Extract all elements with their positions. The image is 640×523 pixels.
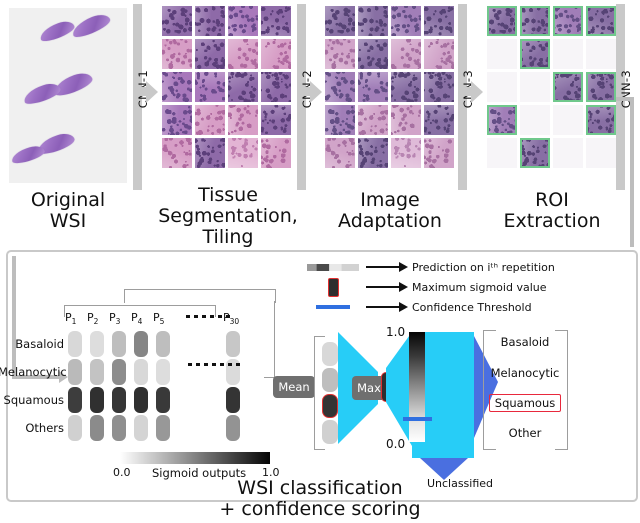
roi-tile <box>520 6 550 36</box>
matrix-column-header: P2 <box>87 311 98 326</box>
legend-label: Confidence Threshold <box>412 301 532 314</box>
roi-tile <box>586 105 616 135</box>
roi-tile <box>487 6 517 36</box>
cnn-1-arrow-stem <box>133 87 147 96</box>
matrix-cell <box>68 415 82 441</box>
mean-col-bracket <box>314 336 325 450</box>
histology-tile <box>325 138 355 168</box>
matrix-cell <box>112 387 126 413</box>
wsi-tissue-shard <box>51 70 94 99</box>
empty-tile-slot <box>520 72 550 102</box>
output-class-basaloid[interactable]: Basaloid <box>489 335 561 349</box>
matrix-cell <box>90 359 104 385</box>
histology-tile <box>162 138 192 168</box>
empty-tile-slot <box>487 138 517 168</box>
histology-tile <box>228 39 258 69</box>
caption-line: Image <box>320 190 460 211</box>
histology-tile <box>325 39 355 69</box>
red-outlined-cap-icon <box>300 278 366 297</box>
matrix-column-header: P30 <box>223 311 239 326</box>
preprocessing-pipeline: Original WSI CNN-1 Tissue Segmentation, … <box>0 0 640 245</box>
matrix-cell <box>226 415 240 441</box>
matrix-row-label: Others <box>0 421 64 435</box>
confidence-threshold-line <box>403 417 432 421</box>
tile-grid-roi <box>487 6 616 168</box>
matrix-cell <box>112 415 126 441</box>
matrix-row-label: Melanocytic <box>0 365 64 379</box>
histology-tile <box>228 72 258 102</box>
matrix-cell <box>226 331 240 357</box>
histology-tile <box>325 72 355 102</box>
matrix-cell <box>68 387 82 413</box>
caption-line: Segmentation, <box>158 206 298 227</box>
roi-tile <box>520 138 550 168</box>
legend: Prediction on iᵗʰ repetition Maximum sig… <box>300 258 560 316</box>
tile-grid-adaptation <box>325 6 454 168</box>
matrix-cell <box>68 359 82 385</box>
tile-grid-segmentation <box>162 6 291 168</box>
matrix-column-header: P3 <box>109 311 120 326</box>
wsi-tissue-shard <box>70 11 113 40</box>
histology-tile <box>228 138 258 168</box>
legend-label: Maximum sigmoid value <box>412 281 547 294</box>
histology-tile <box>195 6 225 36</box>
matrix-row-label: Basaloid <box>0 337 64 351</box>
caption-line: Extraction <box>482 211 622 232</box>
histology-tile <box>358 39 388 69</box>
arrow-icon <box>366 302 412 312</box>
histology-tile <box>195 138 225 168</box>
histology-tile <box>261 6 291 36</box>
histology-tile <box>195 105 225 135</box>
histology-tile <box>424 138 454 168</box>
histology-tile <box>424 72 454 102</box>
output-class-other[interactable]: Other <box>489 426 561 440</box>
matrix-cell <box>156 359 170 385</box>
matrix-cell <box>112 331 126 357</box>
histology-tile <box>391 39 421 69</box>
mean-operation-box[interactable]: Mean <box>273 376 315 398</box>
histology-tile <box>162 6 192 36</box>
empty-tile-slot <box>553 105 583 135</box>
histology-tile <box>424 105 454 135</box>
stage-caption-roi-extraction: ROI Extraction <box>482 190 622 232</box>
gradient-bar-icon <box>300 264 366 271</box>
feed-line-vertical <box>12 256 16 378</box>
matrix-row-label: Squamous <box>0 393 64 407</box>
caption-line: ROI <box>482 190 622 211</box>
matrix-column-header: P4 <box>131 311 142 326</box>
roi-tile <box>553 72 583 102</box>
histology-tile <box>195 72 225 102</box>
arrow-icon <box>366 262 412 272</box>
empty-tile-slot <box>487 72 517 102</box>
matrix-cell <box>90 331 104 357</box>
empty-tile-slot <box>586 138 616 168</box>
histology-tile <box>162 39 192 69</box>
histology-tile <box>325 105 355 135</box>
stage-caption-image-adaptation: Image Adaptation <box>320 190 460 232</box>
matrix-cell <box>68 331 82 357</box>
cnn-1-arrow-head <box>146 81 158 103</box>
histology-tile <box>228 105 258 135</box>
wsi-tissue-shard <box>10 144 46 166</box>
histology-tile <box>391 138 421 168</box>
roi-tile <box>553 6 583 36</box>
confidence-gradient-bar <box>409 332 425 442</box>
route-seg-b <box>630 97 634 247</box>
matrix-header-ellipsis <box>186 315 232 318</box>
colorbar-min-label: 0.0 <box>113 466 131 479</box>
matrix-cell <box>90 415 104 441</box>
empty-tile-slot <box>553 138 583 168</box>
roi-tile <box>487 105 517 135</box>
histology-tile <box>391 105 421 135</box>
histology-tile <box>261 105 291 135</box>
confidence-max-label: 1.0 <box>386 325 405 339</box>
output-class-melanocytic[interactable]: Melanocytic <box>489 366 561 380</box>
roi-tile <box>520 39 550 69</box>
histology-tile <box>424 39 454 69</box>
cnn-3-arrow-stem <box>458 87 472 96</box>
histology-tile <box>162 105 192 135</box>
histology-tile <box>358 105 388 135</box>
histology-tile <box>358 72 388 102</box>
arrow-icon <box>366 282 412 292</box>
roi-tile <box>586 6 616 36</box>
cnn-3-arrow-head <box>471 81 483 103</box>
legend-item-prediction: Prediction on iᵗʰ repetition <box>300 258 560 276</box>
histology-tile <box>261 39 291 69</box>
bottom-section-title: WSI classification + confidence scoring <box>170 478 470 520</box>
matrix-cell <box>156 387 170 413</box>
empty-tile-slot <box>520 105 550 135</box>
title-line: WSI classification <box>170 478 470 499</box>
legend-item-max-sigmoid: Maximum sigmoid value <box>300 278 560 296</box>
histology-tile <box>391 72 421 102</box>
output-class-squamous-selected[interactable]: Squamous <box>489 394 561 412</box>
caption-line: Original <box>5 190 131 211</box>
roi-tile <box>586 72 616 102</box>
histology-tile <box>358 138 388 168</box>
empty-tile-slot <box>553 39 583 69</box>
caption-line: Tissue <box>158 185 298 206</box>
empty-tile-slot <box>586 39 616 69</box>
histology-tile <box>162 72 192 102</box>
caption-line: WSI <box>5 211 131 232</box>
confidence-min-label: 0.0 <box>386 437 405 451</box>
matrix-cell <box>156 415 170 441</box>
wsi-tissue-shard <box>38 18 77 43</box>
legend-label: Prediction on iᵗʰ repetition <box>412 261 555 274</box>
stage-caption-tissue-segmentation: Tissue Segmentation, Tiling <box>158 185 298 248</box>
matrix-cell <box>134 331 148 357</box>
matrix-cell <box>112 359 126 385</box>
histology-tile <box>261 72 291 102</box>
histology-tile <box>391 6 421 36</box>
matrix-cell <box>156 331 170 357</box>
stage-caption-original-wsi: Original WSI <box>5 190 131 232</box>
matrix-bracket-outer <box>124 289 276 303</box>
matrix-column-header: P1 <box>65 311 76 326</box>
matrix-bracket-right <box>264 301 275 379</box>
empty-tile-slot <box>487 39 517 69</box>
sigmoid-colorbar <box>120 452 270 464</box>
title-line: + confidence scoring <box>170 499 470 520</box>
original-wsi-thumbnail <box>9 8 127 183</box>
histology-tile <box>228 6 258 36</box>
matrix-column-header: P5 <box>153 311 164 326</box>
histology-tile <box>195 39 225 69</box>
matrix-cell <box>226 387 240 413</box>
histology-tile <box>358 6 388 36</box>
output-class-list: Basaloid Melanocytic Squamous Other <box>489 330 561 448</box>
histology-tile <box>424 6 454 36</box>
cnn-2-arrow-stem <box>297 87 311 96</box>
wsi-tissue-shard <box>22 80 63 106</box>
histology-tile <box>325 6 355 36</box>
matrix-cell <box>90 387 104 413</box>
caption-line: Adaptation <box>320 211 460 232</box>
histology-tile <box>261 138 291 168</box>
matrix-cell <box>134 415 148 441</box>
matrix-cell <box>134 387 148 413</box>
caption-line: Tiling <box>158 227 298 248</box>
matrix-row-ellipsis <box>188 363 240 366</box>
cnn-2-arrow-head <box>310 81 322 103</box>
matrix-cell <box>134 359 148 385</box>
legend-item-threshold: Confidence Threshold <box>300 298 560 316</box>
